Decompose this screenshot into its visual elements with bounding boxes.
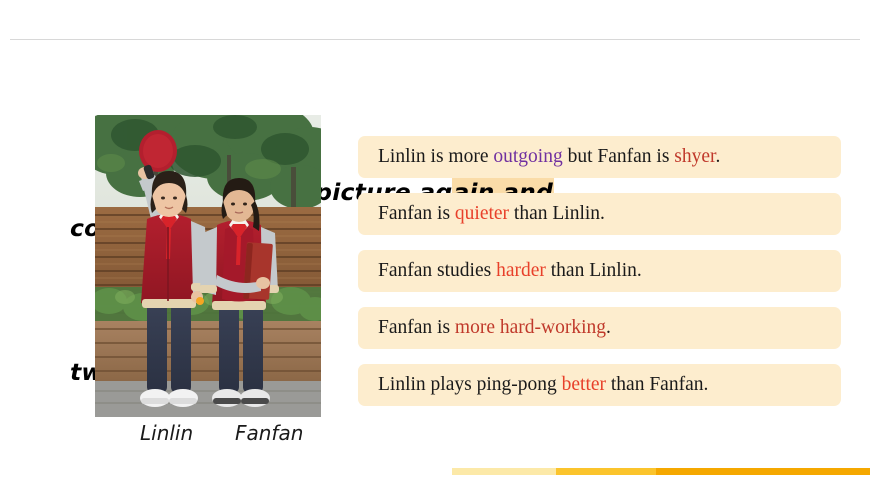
accent-segment-light [452, 468, 556, 475]
sentence-text: Fanfan is more hard-working. [378, 307, 829, 349]
sentence-text: Linlin plays ping-pong better than Fanfa… [378, 364, 829, 406]
sentence-card-list: Linlin is more outgoing but Fanfan is sh… [358, 136, 841, 406]
sentence-fragment: but Fanfan is [563, 146, 675, 167]
header-divider [10, 39, 860, 40]
sentence-text: Linlin is more outgoing but Fanfan is sh… [378, 136, 829, 178]
twins-photo-graphic [95, 115, 321, 417]
twins-photo [95, 115, 321, 417]
sentence-fragment: Fanfan is [378, 317, 455, 338]
sentence-fragment: . [715, 146, 720, 167]
keyword-brick: shyer [674, 146, 715, 167]
sentence-fragment: Fanfan studies [378, 260, 496, 281]
slide-canvas: 4. Look at the picture again and compare… [0, 0, 870, 489]
sentence-fragment: Linlin plays ping-pong [378, 374, 562, 395]
sentence-card[interactable]: Linlin plays ping-pong better than Fanfa… [358, 364, 841, 406]
footer-accent-bar [452, 468, 870, 475]
sentence-card[interactable]: Linlin is more outgoing but Fanfan is sh… [358, 136, 841, 178]
keyword-purple: outgoing [493, 146, 562, 167]
sentence-card[interactable]: Fanfan is more hard-working. [358, 307, 841, 349]
sentence-text: Fanfan studies harder than Linlin. [378, 250, 829, 292]
sentence-card[interactable]: Fanfan is quieter than Linlin. [358, 193, 841, 235]
sentence-fragment: Linlin is more [378, 146, 493, 167]
keyword-red: harder [496, 260, 546, 281]
sentence-card[interactable]: Fanfan studies harder than Linlin. [358, 250, 841, 292]
sentence-text: Fanfan is quieter than Linlin. [378, 193, 829, 235]
caption-fanfan: Fanfan [235, 421, 303, 445]
keyword-red: better [562, 374, 606, 395]
sentence-fragment: than Linlin. [509, 203, 605, 224]
accent-segment-orange [656, 468, 870, 475]
sentence-fragment: . [606, 317, 611, 338]
keyword-red: quieter [455, 203, 509, 224]
caption-linlin: Linlin [140, 421, 193, 445]
sentence-fragment: Fanfan is [378, 203, 455, 224]
sentence-fragment: than Linlin. [546, 260, 642, 281]
accent-segment-gold [556, 468, 656, 475]
sentence-fragment: than Fanfan. [606, 374, 708, 395]
keyword-brick: more hard-working [455, 317, 606, 338]
photo-captions: Linlin Fanfan [95, 421, 335, 453]
